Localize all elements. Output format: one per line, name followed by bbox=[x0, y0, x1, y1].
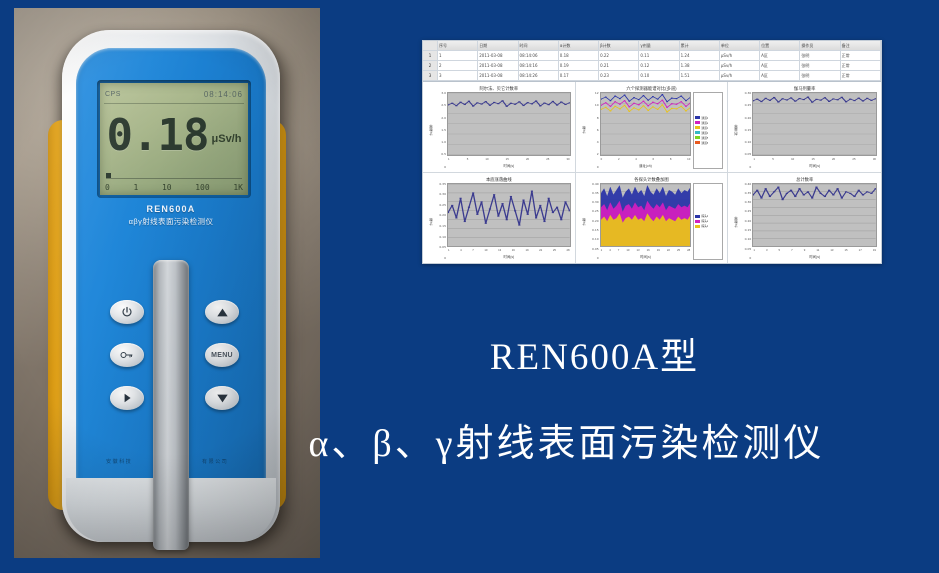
chart-y-ticks: 121086420 bbox=[586, 92, 600, 169]
y-tick-label: 2 bbox=[597, 153, 599, 156]
x-tick-label: 13 bbox=[830, 247, 833, 254]
chart-gamma-dose: 伽马剂量率剂量率0.300.250.200.150.100.0501510152… bbox=[728, 82, 881, 173]
chart-x-ticks: 14710131619222528 bbox=[600, 247, 692, 254]
chart-x-axis-label: 时间(s) bbox=[447, 254, 571, 260]
chart-plot-area bbox=[752, 183, 877, 248]
chart-title: 六个探测器能谱对比(多道) bbox=[580, 85, 724, 92]
y-tick-label: 0.30 bbox=[745, 92, 752, 95]
table-column-header[interactable]: β计数 bbox=[599, 41, 639, 50]
legend-swatch bbox=[695, 121, 700, 124]
y-tick-label: 0.35 bbox=[439, 183, 446, 186]
table-cell[interactable]: 张明 bbox=[800, 71, 840, 80]
table-cell[interactable]: 1 bbox=[438, 51, 478, 60]
x-tick-label: 25 bbox=[852, 156, 855, 163]
y-tick-label: 0.25 bbox=[745, 210, 752, 213]
y-tick-label: 0.40 bbox=[745, 183, 752, 186]
y-tick-label: 10 bbox=[595, 104, 599, 107]
lcd-scale-tick: 10 bbox=[162, 183, 172, 192]
y-tick-label: 0.15 bbox=[439, 225, 446, 228]
table-cell[interactable]: 0.19 bbox=[559, 61, 599, 70]
table-cell[interactable]: 0.21 bbox=[599, 61, 639, 70]
x-tick-label: 17 bbox=[859, 247, 862, 254]
x-tick-label: 25 bbox=[677, 247, 680, 254]
table-cell[interactable]: μSv/h bbox=[720, 51, 760, 60]
y-tick-label: 0.20 bbox=[745, 220, 752, 223]
chart-body: 计数0.400.350.300.250.200.150.100.05014710… bbox=[580, 183, 724, 261]
y-tick-label: 0.20 bbox=[439, 214, 446, 217]
device-sub-text: αβγ射线表面污染检测仪 bbox=[76, 216, 266, 227]
table-cell[interactable]: 08:14:26 bbox=[519, 71, 559, 80]
chart-y-ticks: 0.300.250.200.150.100.050 bbox=[738, 92, 752, 169]
y-tick-label: 0.5 bbox=[441, 153, 446, 156]
software-screenshot-panel: 序号日期时间α计数β计数γ剂量累计单位位置操作员备注112011-03-0808… bbox=[422, 40, 882, 264]
y-tick-label: 0.25 bbox=[745, 104, 752, 107]
table-cell[interactable]: 张明 bbox=[800, 51, 840, 60]
y-tick-label: 0.35 bbox=[745, 192, 752, 195]
table-cell[interactable]: 2011-03-08 bbox=[478, 51, 518, 60]
table-cell[interactable]: 1.24 bbox=[680, 51, 720, 60]
play-button[interactable] bbox=[110, 386, 144, 410]
device-photo: CPS 08:14:06 0.18 μSv/h 0 1 10 100 1K bbox=[14, 8, 320, 558]
x-tick-label: 11 bbox=[816, 247, 819, 254]
up-button[interactable] bbox=[205, 300, 239, 324]
x-tick-label: 19 bbox=[873, 247, 876, 254]
device-label: REN600A αβγ射线表面污染检测仪 bbox=[76, 204, 266, 227]
chart-y-ticks: 0.400.350.300.250.200.150.100.050 bbox=[738, 183, 752, 261]
legend-label: 通道6 bbox=[701, 141, 708, 145]
y-tick-label: 0 bbox=[444, 166, 446, 169]
y-tick-label: 0.35 bbox=[592, 192, 599, 195]
chart-plot-wrapper: 0246810道址(ch) bbox=[600, 92, 692, 169]
table-cell[interactable]: 0.11 bbox=[639, 51, 679, 60]
y-tick-label: 0 bbox=[749, 257, 751, 260]
table-cell[interactable]: 2011-03-08 bbox=[478, 61, 518, 70]
x-tick-label: 28 bbox=[567, 247, 570, 254]
chart-y-axis-label: 计数率 bbox=[732, 183, 738, 261]
x-tick-label: 15 bbox=[812, 156, 815, 163]
y-tick-label: 0.05 bbox=[745, 248, 752, 251]
x-tick-label: 6 bbox=[653, 156, 655, 163]
table-header-row[interactable]: 序号日期时间α计数β计数γ剂量累计单位位置操作员备注 bbox=[423, 41, 881, 51]
lcd-scale-tick: 100 bbox=[195, 183, 209, 192]
table-cell[interactable]: 1.51 bbox=[680, 71, 720, 80]
legend-swatch bbox=[695, 116, 700, 119]
chart-total-count: 总计数率计数率0.400.350.300.250.200.150.100.050… bbox=[728, 173, 881, 264]
chart-x-axis-label: 时间(s) bbox=[447, 163, 571, 169]
x-tick-label: 4 bbox=[635, 156, 637, 163]
legend-swatch bbox=[695, 126, 700, 129]
data-table[interactable]: 序号日期时间α计数β计数γ剂量累计单位位置操作员备注112011-03-0808… bbox=[423, 41, 881, 82]
chart-background-variation: 本底涨落曲线计数0.350.300.250.200.150.100.050147… bbox=[423, 173, 576, 264]
x-tick-label: 5 bbox=[772, 156, 774, 163]
chart-x-axis-label: 时间(s) bbox=[600, 254, 692, 260]
x-tick-label: 4 bbox=[460, 247, 462, 254]
x-tick-label: 5 bbox=[779, 247, 781, 254]
y-tick-label: 0.10 bbox=[592, 238, 599, 241]
table-column-header[interactable]: 序号 bbox=[438, 41, 478, 50]
legend-label: 探头3 bbox=[701, 224, 708, 228]
table-cell[interactable]: 正常 bbox=[841, 71, 881, 80]
x-tick-label: 10 bbox=[687, 156, 690, 163]
legend-item: 通道6 bbox=[695, 140, 721, 145]
table-column-header[interactable]: 累计 bbox=[680, 41, 720, 50]
legend-swatch bbox=[695, 136, 700, 139]
table-column-header[interactable]: 单位 bbox=[720, 41, 760, 50]
y-tick-label: 0.20 bbox=[592, 220, 599, 223]
legend-swatch bbox=[695, 141, 700, 144]
table-cell[interactable]: 2011-03-08 bbox=[478, 71, 518, 80]
legend-item: 探头3 bbox=[695, 224, 721, 229]
table-row[interactable]: 332011-03-0808:14:260.170.230.101.51μSv/… bbox=[423, 71, 881, 81]
legend-label: 探头1 bbox=[701, 214, 708, 218]
x-tick-label: 3 bbox=[766, 247, 768, 254]
y-tick-label: 6 bbox=[597, 129, 599, 132]
table-cell[interactable]: 08:14:06 bbox=[519, 51, 559, 60]
table-cell[interactable]: 0.17 bbox=[559, 71, 599, 80]
lcd-unit: μSv/h bbox=[212, 133, 242, 145]
y-tick-label: 0 bbox=[597, 257, 599, 260]
chart-x-axis-label: 时间(s) bbox=[752, 254, 877, 260]
chart-x-axis-label: 时间(s) bbox=[752, 163, 877, 169]
x-tick-label: 4 bbox=[609, 247, 611, 254]
table-cell[interactable]: A区 bbox=[760, 61, 800, 70]
product-title-line1: REN600A型 bbox=[125, 326, 939, 380]
y-tick-label: 0 bbox=[597, 166, 599, 169]
x-tick-label: 16 bbox=[647, 247, 650, 254]
table-column-header[interactable]: 时间 bbox=[519, 41, 559, 50]
row-handle[interactable]: 2 bbox=[423, 61, 438, 70]
table-cell[interactable]: μSv/h bbox=[720, 61, 760, 70]
y-tick-label: 0.10 bbox=[745, 238, 752, 241]
y-tick-label: 0.25 bbox=[439, 204, 446, 207]
device-model-text: REN600A bbox=[76, 204, 266, 214]
x-tick-label: 20 bbox=[832, 156, 835, 163]
chart-x-axis-label: 道址(ch) bbox=[600, 163, 692, 169]
chart-y-axis-label: 计数 bbox=[580, 183, 586, 261]
legend-swatch bbox=[695, 215, 700, 218]
chart-legend: 探头1探头2探头3 bbox=[693, 183, 723, 261]
chart-x-ticks: 0246810 bbox=[600, 156, 692, 163]
y-tick-label: 0 bbox=[444, 257, 446, 260]
x-tick-label: 13 bbox=[498, 247, 501, 254]
row-handle[interactable] bbox=[423, 41, 438, 50]
y-tick-label: 0.30 bbox=[439, 193, 446, 196]
play-icon bbox=[121, 392, 133, 404]
table-row[interactable]: 112011-03-0808:14:060.180.220.111.24μSv/… bbox=[423, 51, 881, 61]
y-tick-label: 4 bbox=[597, 141, 599, 144]
table-column-header[interactable]: 操作员 bbox=[800, 41, 840, 50]
x-tick-label: 15 bbox=[506, 156, 509, 163]
legend-label: 通道2 bbox=[701, 121, 708, 125]
row-handle[interactable]: 3 bbox=[423, 71, 438, 80]
y-tick-label: 0.40 bbox=[592, 183, 599, 186]
x-tick-label: 5 bbox=[467, 156, 469, 163]
x-tick-label: 1 bbox=[753, 156, 755, 163]
x-tick-label: 9 bbox=[804, 247, 806, 254]
table-cell[interactable]: 2 bbox=[438, 61, 478, 70]
x-tick-label: 2 bbox=[618, 156, 620, 163]
y-tick-label: 0.30 bbox=[745, 201, 752, 204]
x-tick-label: 16 bbox=[512, 247, 515, 254]
x-tick-label: 7 bbox=[618, 247, 620, 254]
chart-title: 伽马剂量率 bbox=[732, 85, 877, 92]
chart-body: 计数0.350.300.250.200.150.100.050147101316… bbox=[427, 183, 571, 261]
x-tick-label: 15 bbox=[845, 247, 848, 254]
table-row[interactable]: 222011-03-0808:14:160.190.210.121.38μSv/… bbox=[423, 61, 881, 71]
chart-multi-energy: 六个探测器能谱对比(多道)计数1210864200246810道址(ch)通道1… bbox=[576, 82, 729, 173]
chart-y-axis-label: 剂量率 bbox=[732, 92, 738, 169]
y-tick-label: 0.10 bbox=[439, 236, 446, 239]
chart-x-ticks: 135791113151719 bbox=[752, 247, 877, 254]
y-tick-label: 0.20 bbox=[745, 117, 752, 120]
x-tick-label: 13 bbox=[636, 247, 639, 254]
x-tick-label: 1 bbox=[601, 247, 603, 254]
chart-plot-wrapper: 135791113151719时间(s) bbox=[752, 183, 877, 261]
table-column-header[interactable]: 日期 bbox=[478, 41, 518, 50]
chart-plot-wrapper: 14710131619222528时间(s) bbox=[600, 183, 692, 261]
x-tick-label: 25 bbox=[546, 156, 549, 163]
lcd-reading: 0.18 μSv/h bbox=[100, 105, 248, 167]
legend-swatch bbox=[695, 220, 700, 223]
y-tick-label: 0.15 bbox=[745, 129, 752, 132]
y-tick-label: 0.10 bbox=[745, 141, 752, 144]
y-tick-label: 0.25 bbox=[592, 210, 599, 213]
chart-x-ticks: 14710131619222528 bbox=[447, 247, 571, 254]
y-tick-label: 0 bbox=[749, 166, 751, 169]
y-tick-label: 0.15 bbox=[592, 229, 599, 232]
table-cell[interactable]: 3 bbox=[438, 71, 478, 80]
y-tick-label: 0.30 bbox=[592, 201, 599, 204]
y-tick-label: 2.0 bbox=[441, 117, 446, 120]
x-tick-label: 10 bbox=[484, 247, 487, 254]
chart-y-axis-label: 计数 bbox=[580, 92, 586, 169]
chart-x-ticks: 151015202530 bbox=[447, 156, 571, 163]
x-tick-label: 10 bbox=[791, 156, 794, 163]
table-cell[interactable]: 0.23 bbox=[599, 71, 639, 80]
product-title-line2: α、β、γ射线表面污染检测仪 bbox=[97, 412, 939, 467]
down-button[interactable] bbox=[205, 386, 239, 410]
x-tick-label: 7 bbox=[472, 247, 474, 254]
chart-plot-area bbox=[600, 183, 692, 248]
x-tick-label: 20 bbox=[526, 156, 529, 163]
y-tick-label: 12 bbox=[595, 92, 599, 95]
legend-label: 通道5 bbox=[701, 136, 708, 140]
lcd-bargraph bbox=[106, 173, 242, 179]
lcd-scale: 0 1 10 100 1K bbox=[105, 181, 243, 194]
power-icon bbox=[121, 306, 133, 318]
chart-stacked-channels: 各探头计数叠加图计数0.400.350.300.250.200.150.100.… bbox=[576, 173, 729, 264]
x-tick-label: 1 bbox=[753, 247, 755, 254]
y-tick-label: 0.05 bbox=[745, 153, 752, 156]
legend-label: 通道3 bbox=[701, 126, 708, 130]
table-cell[interactable]: 0.10 bbox=[639, 71, 679, 80]
lcd-bezel: CPS 08:14:06 0.18 μSv/h 0 1 10 100 1K bbox=[97, 80, 251, 198]
chart-y-ticks: 0.350.300.250.200.150.100.050 bbox=[433, 183, 447, 261]
x-tick-label: 19 bbox=[525, 247, 528, 254]
x-tick-label: 30 bbox=[873, 156, 876, 163]
x-tick-label: 19 bbox=[657, 247, 660, 254]
x-tick-label: 25 bbox=[553, 247, 556, 254]
table-cell[interactable]: 0.22 bbox=[599, 51, 639, 60]
table-cell[interactable]: 0.18 bbox=[559, 51, 599, 60]
chart-title: 本底涨落曲线 bbox=[427, 176, 571, 183]
table-cell[interactable]: 0.12 bbox=[639, 61, 679, 70]
x-tick-label: 28 bbox=[687, 247, 690, 254]
table-column-header[interactable]: γ剂量 bbox=[639, 41, 679, 50]
legend-label: 通道1 bbox=[701, 116, 708, 120]
lcd-divider bbox=[104, 103, 244, 104]
table-column-header[interactable]: 备注 bbox=[841, 41, 881, 50]
x-tick-label: 10 bbox=[626, 247, 629, 254]
x-tick-label: 1 bbox=[448, 247, 450, 254]
triangle-up-icon bbox=[216, 307, 229, 318]
chart-plot-area bbox=[752, 92, 877, 156]
y-tick-label: 2.5 bbox=[441, 104, 446, 107]
table-column-header[interactable]: 位置 bbox=[760, 41, 800, 50]
lcd-scale-tick: 0 bbox=[105, 183, 110, 192]
chart-grid: 阿尔法、贝它计数率计数率3.02.52.01.51.00.50151015202… bbox=[423, 82, 881, 263]
chart-plot-area bbox=[600, 92, 692, 156]
x-tick-label: 30 bbox=[566, 156, 569, 163]
legend-swatch bbox=[695, 225, 700, 228]
chart-title: 总计数率 bbox=[732, 176, 877, 183]
x-tick-label: 8 bbox=[670, 156, 672, 163]
table-cell[interactable]: 张明 bbox=[800, 61, 840, 70]
x-tick-label: 1 bbox=[448, 156, 450, 163]
chart-plot-area bbox=[447, 183, 571, 248]
lcd-screen: CPS 08:14:06 0.18 μSv/h 0 1 10 100 1K bbox=[100, 83, 248, 195]
chart-y-ticks: 3.02.52.01.51.00.50 bbox=[433, 92, 447, 169]
x-tick-label: 22 bbox=[539, 247, 542, 254]
chart-body: 计数1210864200246810道址(ch)通道1通道2通道3通道4通道5通… bbox=[580, 92, 724, 169]
lcd-value: 0.18 bbox=[107, 114, 209, 158]
chart-plot-area bbox=[447, 92, 571, 156]
chart-plot-wrapper: 151015202530时间(s) bbox=[752, 92, 877, 169]
lcd-clock: 08:14:06 bbox=[204, 90, 243, 99]
y-tick-label: 1.0 bbox=[441, 141, 446, 144]
y-tick-label: 1.5 bbox=[441, 129, 446, 132]
y-tick-label: 0.05 bbox=[592, 248, 599, 251]
y-tick-label: 3.0 bbox=[441, 92, 446, 95]
lcd-status-bar: CPS 08:14:06 bbox=[105, 87, 243, 101]
lcd-mode-label: CPS bbox=[105, 91, 121, 98]
chart-plot-wrapper: 14710131619222528时间(s) bbox=[447, 183, 571, 261]
chart-plot-wrapper: 151015202530时间(s) bbox=[447, 92, 571, 169]
table-cell[interactable]: 正常 bbox=[841, 51, 881, 60]
chart-legend: 通道1通道2通道3通道4通道5通道6 bbox=[693, 92, 723, 169]
chart-body: 计数率0.400.350.300.250.200.150.100.0501357… bbox=[732, 183, 877, 261]
legend-label: 探头2 bbox=[701, 219, 708, 223]
table-column-header[interactable]: α计数 bbox=[559, 41, 599, 50]
power-button[interactable] bbox=[110, 300, 144, 324]
triangle-down-icon bbox=[216, 393, 229, 404]
x-tick-label: 10 bbox=[485, 156, 488, 163]
slide-root: CPS 08:14:06 0.18 μSv/h 0 1 10 100 1K bbox=[0, 0, 939, 573]
legend-label: 通道4 bbox=[701, 131, 708, 135]
chart-body: 计数率3.02.52.01.51.00.50151015202530时间(s) bbox=[427, 92, 571, 169]
device-handle bbox=[153, 260, 189, 550]
y-tick-label: 8 bbox=[597, 117, 599, 120]
chart-title: 阿尔法、贝它计数率 bbox=[427, 85, 571, 92]
x-tick-label: 7 bbox=[791, 247, 793, 254]
legend-swatch bbox=[695, 131, 700, 134]
row-handle[interactable]: 1 bbox=[423, 51, 438, 60]
lcd-scale-tick: 1K bbox=[233, 183, 243, 192]
x-tick-label: 0 bbox=[601, 156, 603, 163]
table-cell[interactable]: 1.38 bbox=[680, 61, 720, 70]
chart-title: 各探头计数叠加图 bbox=[580, 176, 724, 183]
lcd-bargraph-segment bbox=[106, 173, 111, 178]
table-cell[interactable]: 正常 bbox=[841, 61, 881, 70]
chart-body: 剂量率0.300.250.200.150.100.050151015202530… bbox=[732, 92, 877, 169]
chart-x-ticks: 151015202530 bbox=[752, 156, 877, 163]
y-tick-label: 0.05 bbox=[439, 246, 446, 249]
x-tick-label: 22 bbox=[667, 247, 670, 254]
table-cell[interactable]: μSv/h bbox=[720, 71, 760, 80]
table-cell[interactable]: A区 bbox=[760, 71, 800, 80]
chart-alpha-count: 阿尔法、贝它计数率计数率3.02.52.01.51.00.50151015202… bbox=[423, 82, 576, 173]
table-cell[interactable]: 08:14:16 bbox=[519, 61, 559, 70]
chart-y-ticks: 0.400.350.300.250.200.150.100.050 bbox=[586, 183, 600, 261]
lcd-scale-tick: 1 bbox=[133, 183, 138, 192]
chart-y-axis-label: 计数 bbox=[427, 183, 433, 261]
y-tick-label: 0.15 bbox=[745, 229, 752, 232]
table-cell[interactable]: A区 bbox=[760, 51, 800, 60]
chart-y-axis-label: 计数率 bbox=[427, 92, 433, 169]
